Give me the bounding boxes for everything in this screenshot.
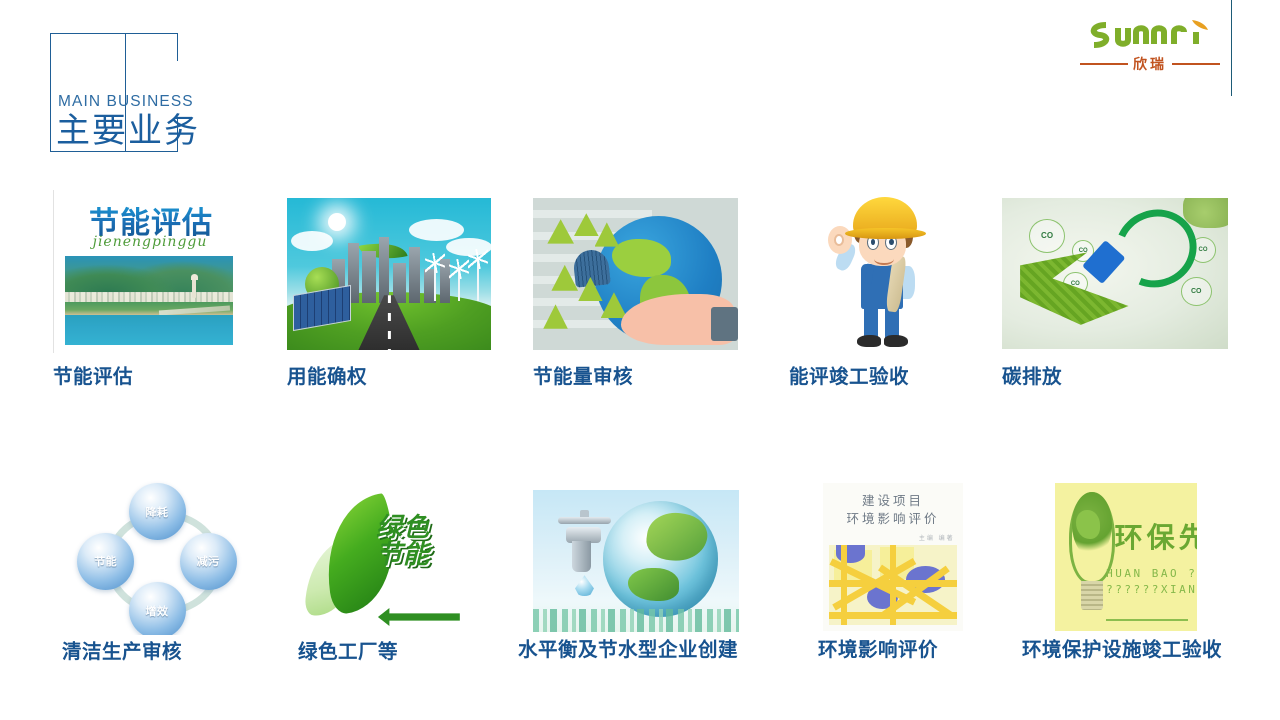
logo-rule-right bbox=[1172, 63, 1220, 65]
card-caption: 碳排放 bbox=[1002, 360, 1232, 389]
card-caption: 节能评估 bbox=[53, 360, 243, 389]
title-frame-top-bar bbox=[50, 33, 178, 34]
card-caption: 绿色工厂等 bbox=[298, 635, 493, 664]
thumbnail-energy-saving-assessment: 节能评估 jienengpinggu bbox=[53, 190, 243, 353]
green-logo-text: 绿色 节能 bbox=[376, 515, 489, 570]
card-caption: 清洁生产审核 bbox=[62, 635, 252, 664]
logo-chinese-row: 欣瑞 bbox=[1080, 54, 1220, 74]
huanbao-pinyin-text: HUAN BAO ??? ??????XIAN bbox=[1106, 566, 1197, 599]
card-caption: 能评竣工验收 bbox=[789, 360, 979, 389]
business-card-qingjie-shengchan[interactable]: 降耗 节能 减污 增效 清洁生产审核 bbox=[62, 480, 252, 682]
logo-rule-left bbox=[1080, 63, 1128, 65]
business-card-shuipingheng[interactable]: 水平衡及节水型企业创建 bbox=[518, 490, 798, 682]
diamond-node-left: 节能 bbox=[77, 533, 134, 590]
thumbnail-clean-production: 降耗 节能 减污 增效 bbox=[62, 480, 252, 635]
card-caption: 环境保护设施竣工验收 bbox=[1022, 633, 1272, 662]
thumbnail-eia-book: 建设项目 环境影响评价 主编 编著 bbox=[823, 483, 963, 631]
business-card-lvse-gongchang[interactable]: 绿色 节能 绿色工厂等 bbox=[298, 485, 493, 682]
page-title-block: MAIN BUSINESS 主要业务 bbox=[50, 33, 250, 155]
company-logo: 欣瑞 bbox=[1080, 18, 1220, 80]
book-cover-graphic bbox=[829, 545, 958, 625]
card-caption: 环境影响评价 bbox=[818, 633, 1014, 662]
header-vertical-divider bbox=[1231, 0, 1232, 96]
card-caption: 用能确权 bbox=[287, 360, 491, 389]
business-card-huanbao-sheshi[interactable]: 环保先 HUAN BAO ??? ??????XIAN 环境保护设施竣工验收 bbox=[1022, 483, 1272, 682]
card-caption: 水平衡及节水型企业创建 bbox=[518, 633, 798, 662]
page-title: 主要业务 bbox=[56, 113, 200, 150]
business-card-jieneng-pinggu[interactable]: 节能评估 jienengpinggu 节能评估 bbox=[53, 190, 243, 400]
poster-pinyin-text: jienengpinggu bbox=[61, 234, 239, 250]
diamond-node-top: 降耗 bbox=[129, 483, 186, 540]
co2-bubble: CO bbox=[1181, 277, 1212, 306]
thumbnail-green-factory: 绿色 节能 bbox=[298, 485, 493, 635]
thumbnail-carbon-emission: CO CO CO CO CO bbox=[1002, 198, 1228, 349]
thumbnail-energy-rights bbox=[287, 198, 491, 350]
business-card-jienengliang-shenhe[interactable]: 节能量审核 bbox=[533, 198, 738, 400]
slide-root: MAIN BUSINESS 主要业务 欣瑞 节能评估 bbox=[0, 0, 1280, 720]
page-title-english: MAIN BUSINESS bbox=[58, 93, 194, 111]
title-frame-bottom-bar bbox=[50, 151, 178, 152]
diamond-node-bottom: 增效 bbox=[129, 582, 186, 635]
thumbnail-worker-acceptance bbox=[811, 190, 951, 355]
card-caption: 节能量审核 bbox=[533, 360, 738, 389]
diamond-node-right: 减污 bbox=[180, 533, 237, 590]
recycle-arrow-icon bbox=[378, 608, 460, 626]
book-cover-title: 建设项目 环境影响评价 bbox=[831, 492, 954, 528]
sunri-wordmark-icon bbox=[1084, 18, 1216, 52]
business-card-yongneng-quequan[interactable]: 用能确权 bbox=[287, 198, 491, 400]
logo-company-name-cn: 欣瑞 bbox=[1133, 54, 1167, 74]
business-card-nengping-jungong[interactable]: 能评竣工验收 bbox=[789, 190, 979, 400]
worker-illustration bbox=[811, 190, 951, 355]
thumbnail-env-protection-acceptance: 环保先 HUAN BAO ??? ??????XIAN bbox=[1055, 483, 1197, 631]
business-card-huanjing-yingxiang[interactable]: 建设项目 环境影响评价 主编 编著 bbox=[818, 483, 1014, 682]
poster-landscape-photo bbox=[65, 256, 233, 345]
business-card-tanpaifang[interactable]: CO CO CO CO CO 碳排放 bbox=[1002, 198, 1232, 400]
thumbnail-water-balance bbox=[533, 490, 739, 632]
huanbao-title-text: 环保先 bbox=[1115, 516, 1197, 556]
book-cover-byline: 主编 编著 bbox=[831, 533, 954, 542]
co2-bubble: CO bbox=[1029, 219, 1065, 253]
title-frame-right-upper bbox=[177, 33, 178, 61]
thumbnail-energy-audit bbox=[533, 198, 738, 350]
